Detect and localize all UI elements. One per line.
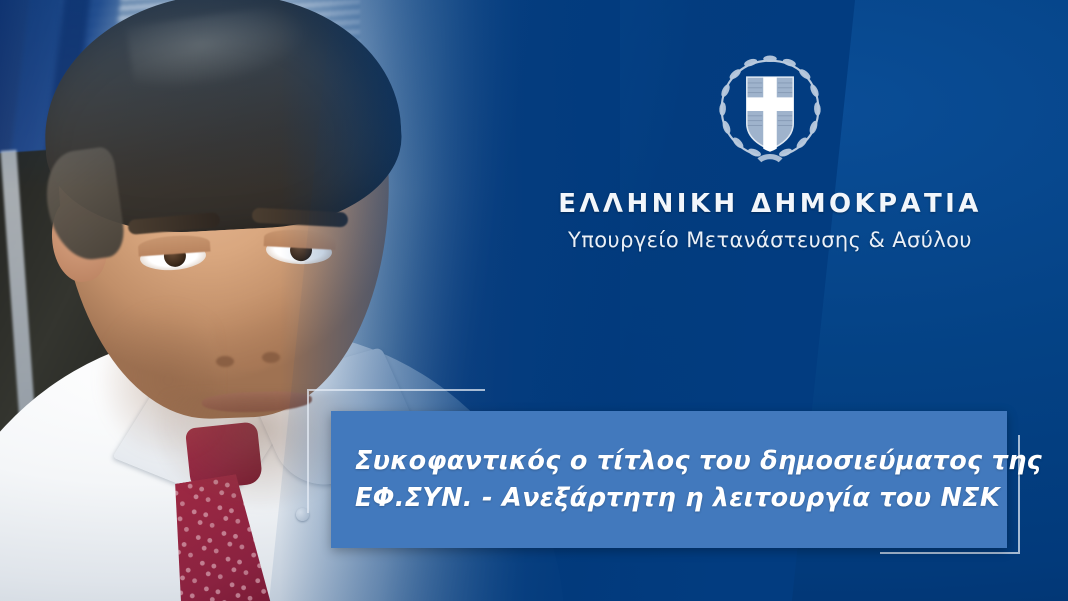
greek-coat-of-arms-icon [712, 52, 828, 168]
headline-line-1: Συκοφαντικός ο τίτλος του δημοσιεύματος … [355, 443, 981, 479]
nostril-right [262, 352, 280, 363]
ministry-branding: ΕΛΛΗΝΙΚΗ ΔΗΜΟΚΡΑΤΙΑ Υπουργείο Μετανάστευ… [540, 52, 1000, 252]
graphic-canvas: ΕΛΛΗΝΙΚΗ ΔΗΜΟΚΡΑΤΙΑ Υπουργείο Μετανάστευ… [0, 0, 1068, 601]
headline-line-2: ΕΦ.ΣΥΝ. - Ανεξάρτητη η λειτουργία του ΝΣ… [355, 480, 981, 516]
nostril-left [216, 356, 234, 367]
headline-banner: Συκοφαντικός ο τίτλος του δημοσιεύματος … [331, 411, 1007, 548]
ministry-subtitle: Υπουργείο Μετανάστευσης & Ασύλου [540, 228, 1000, 252]
republic-title: ΕΛΛΗΝΙΚΗ ΔΗΜΟΚΡΑΤΙΑ [540, 190, 1000, 219]
